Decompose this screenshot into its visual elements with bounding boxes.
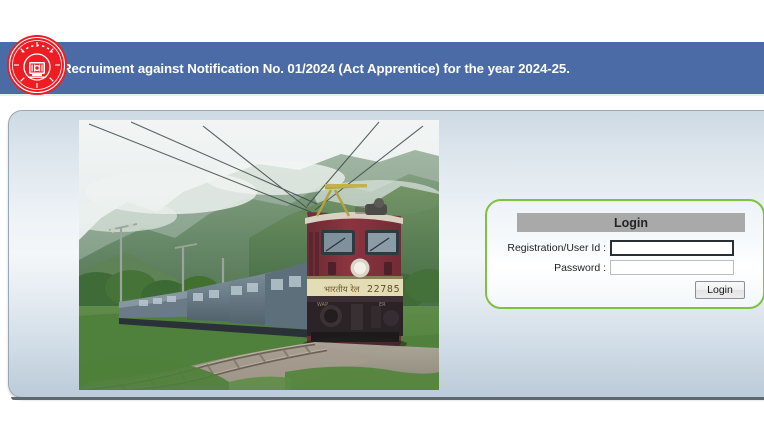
svg-text:भारतीय रेल: भारतीय रेल	[324, 284, 360, 295]
train-photo: भारतीय रेल 22785 WAP	[79, 120, 439, 390]
indian-railways-emblem-icon	[6, 34, 68, 96]
password-input[interactable]	[610, 260, 734, 275]
page-header: Recruiment against Notification No. 01/2…	[0, 42, 764, 94]
svg-text:WAP: WAP	[317, 302, 328, 308]
login-panel-title: Login	[517, 213, 745, 232]
content-panel: भारतीय रेल 22785 WAP	[8, 110, 764, 398]
login-button-row: Login	[493, 281, 745, 299]
userid-label: Registration/User Id :	[493, 242, 610, 254]
svg-text:22785: 22785	[367, 284, 400, 295]
login-button[interactable]: Login	[695, 281, 745, 299]
password-label: Password :	[493, 262, 610, 274]
login-page: Recruiment against Notification No. 01/2…	[0, 0, 764, 430]
svg-text:ER: ER	[379, 302, 386, 308]
page-title: Recruiment against Notification No. 01/2…	[62, 42, 570, 94]
login-box: Login Registration/User Id : Password : …	[485, 199, 764, 309]
form-row-userid: Registration/User Id :	[493, 239, 745, 256]
form-row-password: Password :	[493, 259, 745, 276]
registration-userid-input[interactable]	[610, 240, 734, 256]
